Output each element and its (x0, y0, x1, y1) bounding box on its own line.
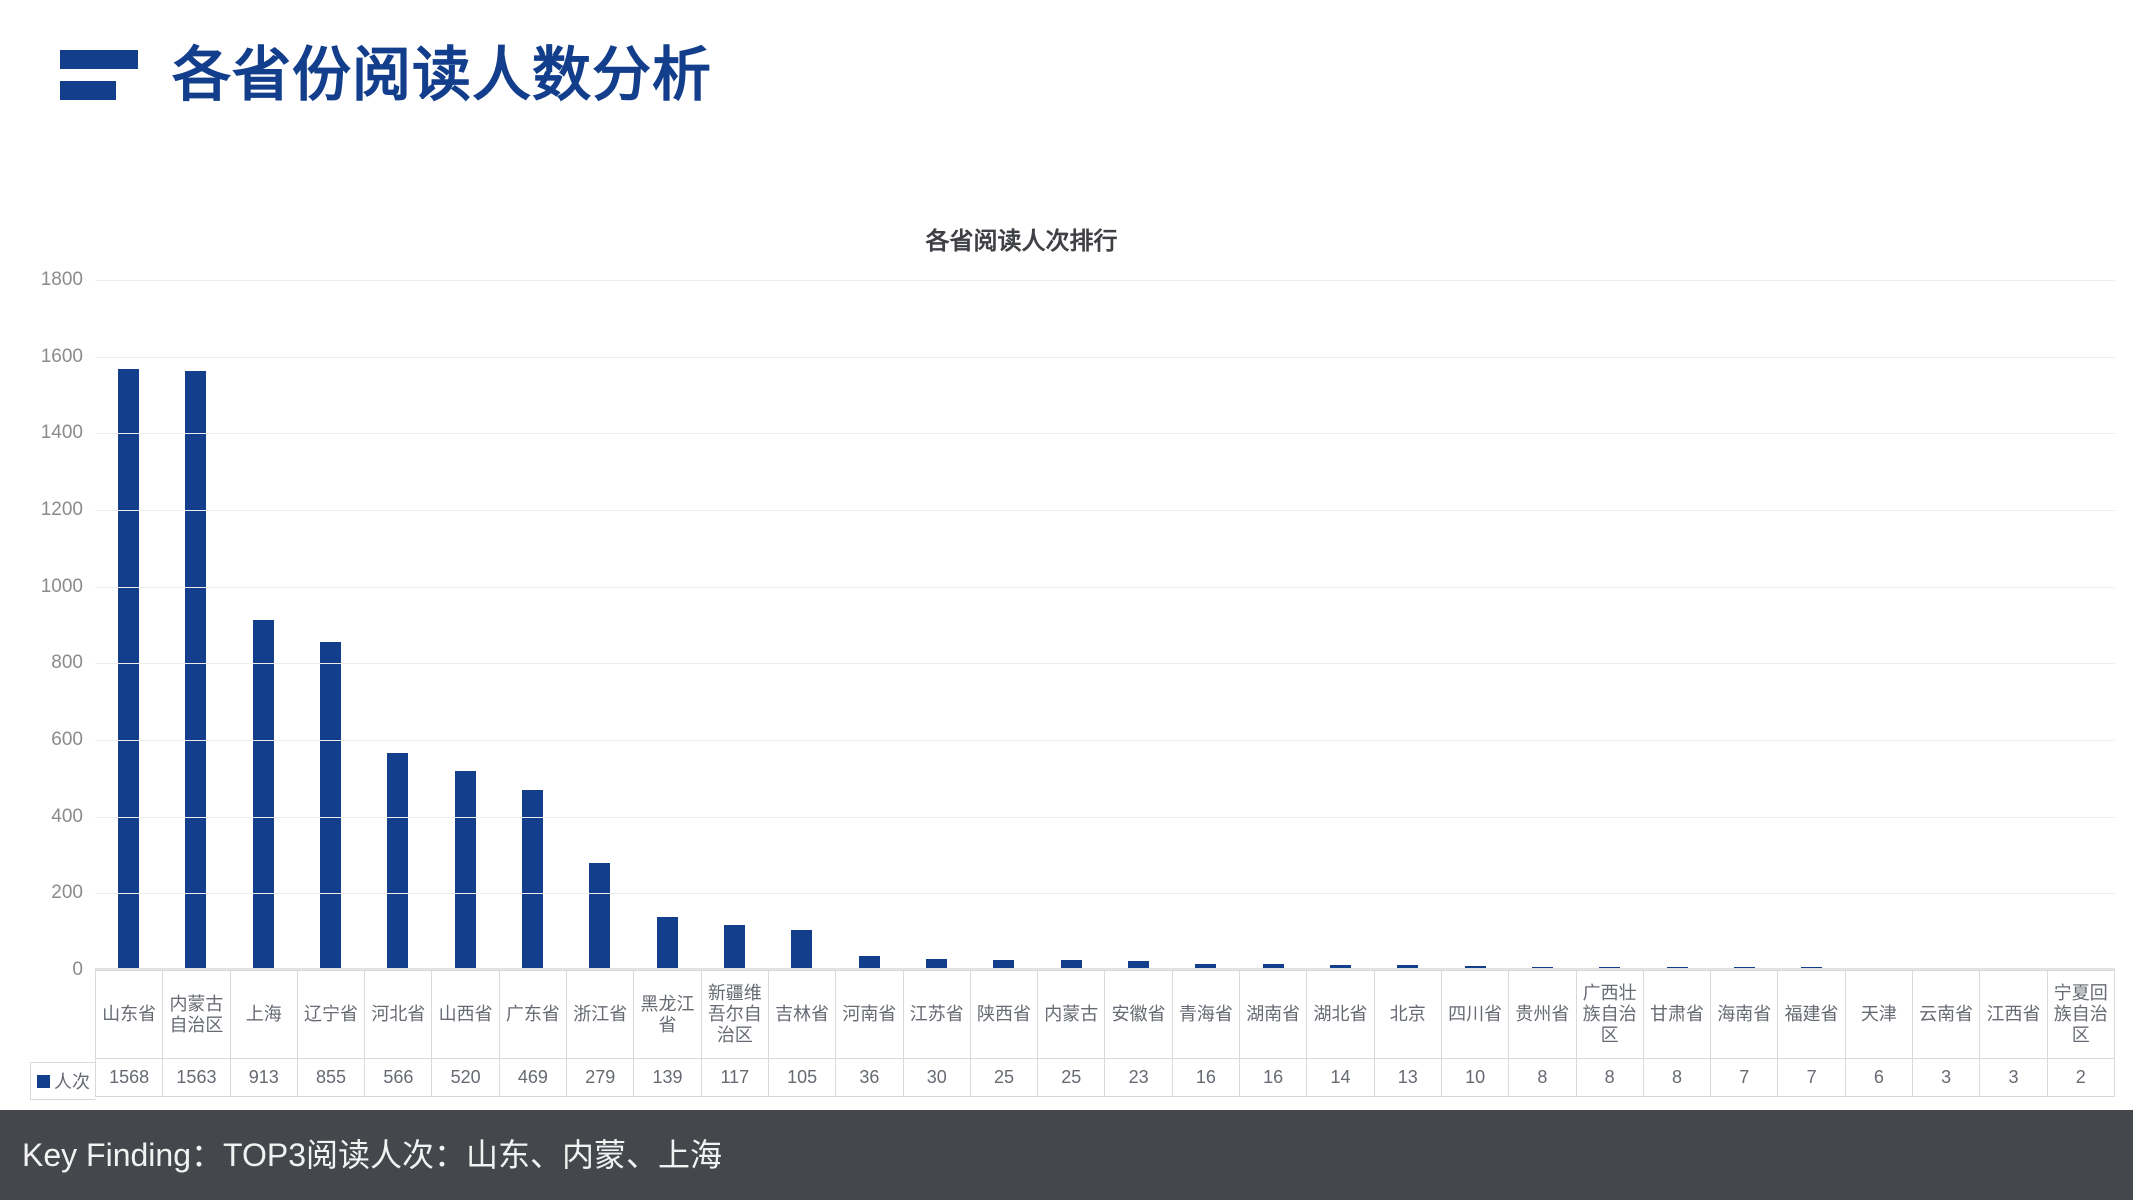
table-cell-value: 16 (1240, 1059, 1307, 1097)
gridline (95, 817, 2115, 818)
table-cell-category: 新疆维吾尔自治区 (701, 971, 768, 1059)
two-bars-icon (60, 46, 138, 104)
bar-slot (2048, 280, 2115, 970)
table-cell-category: 广东省 (499, 971, 566, 1059)
table-cell-value: 25 (1038, 1059, 1105, 1097)
table-cell-category: 山东省 (96, 971, 163, 1059)
table-cell-value: 7 (1711, 1059, 1778, 1097)
bar-slot (432, 280, 499, 970)
table-cell-category: 陕西省 (970, 971, 1037, 1059)
bar[interactable] (589, 863, 610, 970)
table-cell-value: 566 (365, 1059, 432, 1097)
two-bars-icon-lower-bar (60, 81, 116, 100)
chart-data-table: 山东省内蒙古自治区上海辽宁省河北省山西省广东省浙江省黑龙江省新疆维吾尔自治区吉林… (95, 970, 2115, 1097)
table-cell-value: 117 (701, 1059, 768, 1097)
table-cell-value: 8 (1576, 1059, 1643, 1097)
table-cell-value: 10 (1441, 1059, 1508, 1097)
table-cell-category: 广西壮族自治区 (1576, 971, 1643, 1059)
bar[interactable] (657, 917, 678, 970)
bar-slot (768, 280, 835, 970)
bar-slot (1172, 280, 1239, 970)
bar[interactable] (387, 753, 408, 970)
table-cell-value: 23 (1105, 1059, 1172, 1097)
gridline (95, 510, 2115, 511)
table-cell-value: 1563 (163, 1059, 230, 1097)
y-axis-tick-label: 1600 (41, 346, 83, 368)
bar-slot (1644, 280, 1711, 970)
table-cell-category: 辽宁省 (297, 971, 364, 1059)
gridline (95, 280, 2115, 281)
table-cell-value: 8 (1643, 1059, 1710, 1097)
bar-slot (634, 280, 701, 970)
bar-slot (1913, 280, 1980, 970)
table-cell-value: 3 (1980, 1059, 2047, 1097)
table-cell-value: 105 (768, 1059, 835, 1097)
y-axis-tick-label: 1000 (41, 576, 83, 598)
bar-slot (970, 280, 1037, 970)
bar-slot (566, 280, 633, 970)
table-cell-category: 山西省 (432, 971, 499, 1059)
bar-slot (1374, 280, 1441, 970)
table-cell-category: 江苏省 (903, 971, 970, 1059)
bar-slot (230, 280, 297, 970)
table-cell-value: 520 (432, 1059, 499, 1097)
table-cell-category: 吉林省 (768, 971, 835, 1059)
bar-slot (364, 280, 431, 970)
table-cell-category: 贵州省 (1509, 971, 1576, 1059)
table-cell-category: 福建省 (1778, 971, 1845, 1059)
bar-slot (1846, 280, 1913, 970)
table-cell-category: 内蒙古自治区 (163, 971, 230, 1059)
table-cell-category: 四川省 (1441, 971, 1508, 1059)
chart-container: 各省阅读人次排行 0200400600800100012001400160018… (0, 150, 2133, 1110)
key-finding-text: Key Finding：TOP3阅读人次：山东、内蒙、上海 (22, 1139, 722, 1171)
table-cell-value: 14 (1307, 1059, 1374, 1097)
table-cell-category: 云南省 (1913, 971, 1980, 1059)
two-bars-icon-upper-bar (60, 50, 138, 69)
table-cell-category: 河北省 (365, 971, 432, 1059)
bar-slot (1105, 280, 1172, 970)
legend-label: 人次 (54, 1068, 90, 1094)
gridline (95, 663, 2115, 664)
gridline (95, 433, 2115, 434)
bar[interactable] (253, 620, 274, 970)
table-cell-category: 江西省 (1980, 971, 2047, 1059)
table-cell-value: 139 (634, 1059, 701, 1097)
bar-slot (1509, 280, 1576, 970)
table-cell-category: 天津 (1845, 971, 1912, 1059)
table-cell-value: 855 (297, 1059, 364, 1097)
table-cell-category: 安徽省 (1105, 971, 1172, 1059)
table-cell-value: 13 (1374, 1059, 1441, 1097)
bar-slot (1778, 280, 1845, 970)
bar-slot (836, 280, 903, 970)
bar-slot (162, 280, 229, 970)
table-cell-value: 16 (1172, 1059, 1239, 1097)
y-axis-tick-label: 400 (51, 806, 83, 828)
bar-slot (1240, 280, 1307, 970)
page-title: 各省份阅读人数分析 (172, 46, 712, 105)
y-axis-tick-label: 200 (51, 882, 83, 904)
y-axis-tick-label: 600 (51, 729, 83, 751)
legend-entry-renci: 人次 (30, 1062, 96, 1100)
gridline (95, 740, 2115, 741)
table-cell-value: 36 (836, 1059, 903, 1097)
table-cell-category: 甘肃省 (1643, 971, 1710, 1059)
y-axis-tick-label: 800 (51, 652, 83, 674)
table-cell-category: 北京 (1374, 971, 1441, 1059)
table-cell-category: 青海省 (1172, 971, 1239, 1059)
table-cell-value: 1568 (96, 1059, 163, 1097)
bar-slot (95, 280, 162, 970)
table-cell-value: 2 (2047, 1059, 2114, 1097)
table-cell-value: 30 (903, 1059, 970, 1097)
table-row-values: 1568156391385556652046927913911710536302… (96, 1059, 2115, 1097)
bar[interactable] (118, 369, 139, 970)
table-cell-value: 7 (1778, 1059, 1845, 1097)
table-cell-category: 河南省 (836, 971, 903, 1059)
bar-slot (1576, 280, 1643, 970)
table-cell-category: 内蒙古 (1038, 971, 1105, 1059)
table-row-categories: 山东省内蒙古自治区上海辽宁省河北省山西省广东省浙江省黑龙江省新疆维吾尔自治区吉林… (96, 971, 2115, 1059)
table-cell-value: 279 (567, 1059, 634, 1097)
bar-group (95, 280, 2115, 970)
table-cell-category: 湖南省 (1240, 971, 1307, 1059)
bar-slot (499, 280, 566, 970)
table-cell-category: 浙江省 (567, 971, 634, 1059)
table-cell-category: 上海 (230, 971, 297, 1059)
table-cell-value: 3 (1913, 1059, 1980, 1097)
bar[interactable] (320, 642, 341, 970)
table-cell-category: 宁夏回族自治区 (2047, 971, 2114, 1059)
gridline (95, 587, 2115, 588)
bar-slot (701, 280, 768, 970)
bar-slot (297, 280, 364, 970)
y-axis: 020040060080010001200140016001800 (0, 280, 95, 970)
bar-slot (903, 280, 970, 970)
gridline (95, 893, 2115, 894)
chart-title: 各省阅读人次排行 (0, 230, 2133, 254)
bar-slot (1711, 280, 1778, 970)
table-cell-value: 469 (499, 1059, 566, 1097)
key-finding-footer: Key Finding：TOP3阅读人次：山东、内蒙、上海 (0, 1110, 2133, 1200)
bar[interactable] (185, 371, 206, 970)
chart-legend: 人次 (30, 970, 96, 1100)
table-cell-value: 8 (1509, 1059, 1576, 1097)
bar-slot (1980, 280, 2047, 970)
bar[interactable] (455, 771, 476, 970)
bar-slot (1442, 280, 1509, 970)
table-cell-category: 海南省 (1711, 971, 1778, 1059)
table-cell-category: 湖北省 (1307, 971, 1374, 1059)
y-axis-tick-label: 1800 (41, 269, 83, 291)
bar-slot (1307, 280, 1374, 970)
y-axis-tick-label: 1200 (41, 499, 83, 521)
y-axis-tick-label: 1400 (41, 422, 83, 444)
table-cell-value: 25 (970, 1059, 1037, 1097)
bar[interactable] (724, 925, 745, 970)
bar-slot (1038, 280, 1105, 970)
table-cell-value: 6 (1845, 1059, 1912, 1097)
slide-header: 各省份阅读人数分析 (0, 0, 2133, 150)
legend-swatch-icon (37, 1075, 50, 1088)
plot-area (95, 280, 2115, 970)
chart-plot-wrapper: 020040060080010001200140016001800 人次 山东省… (0, 280, 2133, 1105)
bar[interactable] (791, 930, 812, 970)
table-cell-value: 913 (230, 1059, 297, 1097)
gridline (95, 357, 2115, 358)
table-cell-category: 黑龙江省 (634, 971, 701, 1059)
